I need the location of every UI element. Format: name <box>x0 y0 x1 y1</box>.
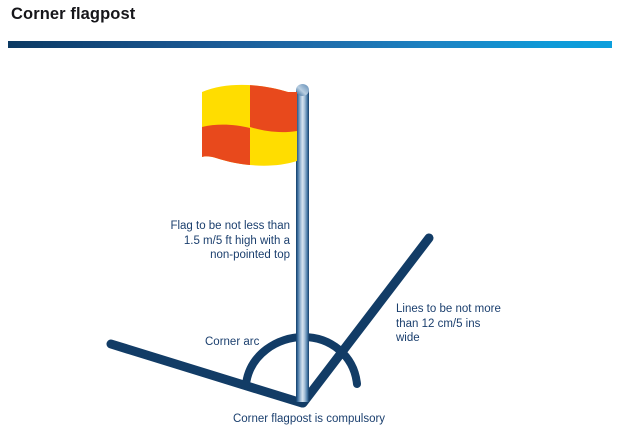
corner-flag <box>198 68 302 174</box>
flagpost <box>296 84 309 402</box>
page-root: Corner flagpost <box>0 0 618 440</box>
annotation-line-width: Lines to be not more than 12 cm/5 ins wi… <box>396 302 556 346</box>
goal-line <box>111 344 302 403</box>
header-gradient-rule <box>8 41 612 48</box>
annotation-flag-height: Flag to be not less than 1.5 m/5 ft high… <box>118 219 290 263</box>
annotation-corner-arc: Corner arc <box>205 335 259 350</box>
page-title: Corner flagpost <box>11 5 135 24</box>
corner-flagpost-diagram <box>0 48 618 440</box>
diagram-caption: Corner flagpost is compulsory <box>191 412 427 427</box>
